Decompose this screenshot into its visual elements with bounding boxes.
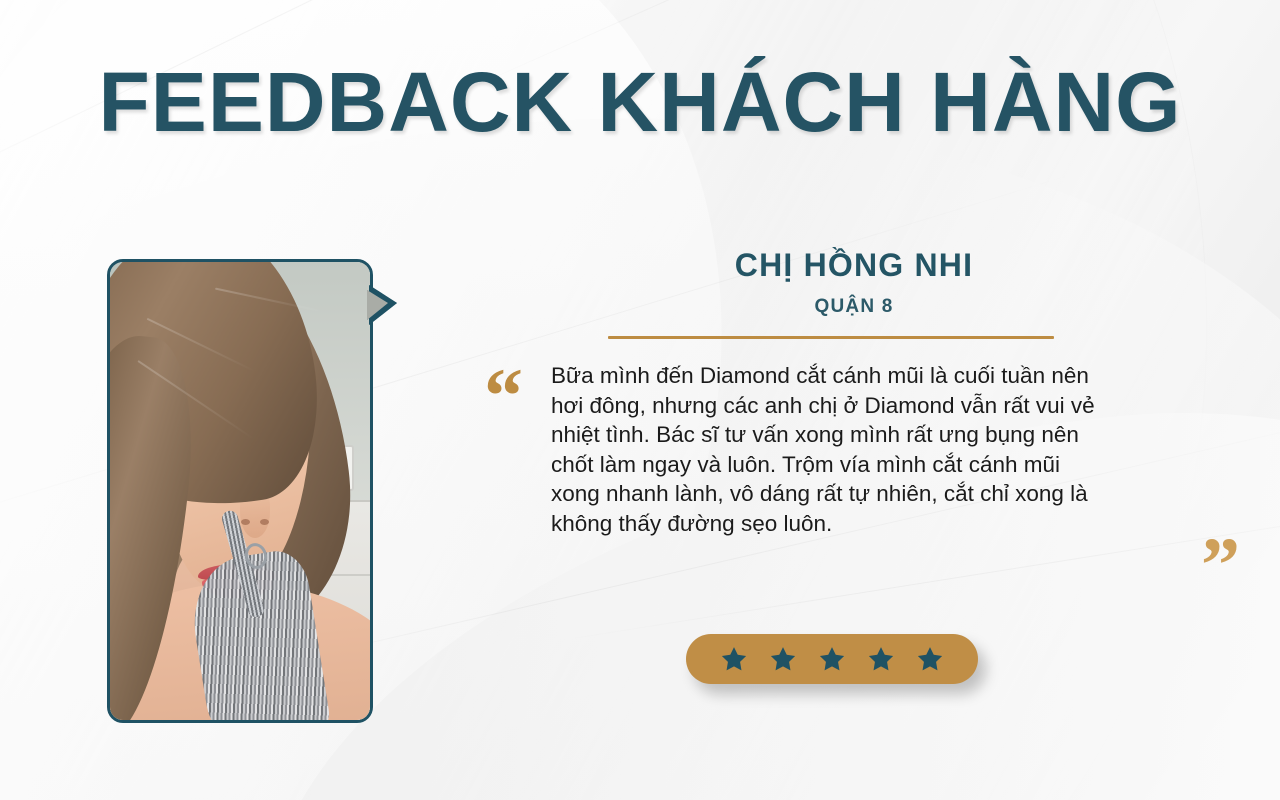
customer-name: CHỊ HỒNG NHI — [528, 246, 1180, 284]
quote-open-icon: “ — [484, 367, 523, 426]
gold-divider — [608, 336, 1054, 339]
page-title: FEEDBACK KHÁCH HÀNG — [0, 58, 1280, 146]
star-icon — [720, 645, 748, 673]
nostril-right — [260, 519, 269, 525]
quote-close-icon: ” — [1201, 536, 1240, 595]
feedback-slide: FEEDBACK KHÁCH HÀNG — [0, 0, 1280, 800]
photo-frame — [107, 259, 373, 723]
star-rating — [686, 634, 978, 684]
star-icon — [818, 645, 846, 673]
testimonial-panel: CHỊ HỒNG NHI QUẬN 8 “ Bữa mình đến Diamo… — [480, 246, 1180, 538]
customer-location: QUẬN 8 — [528, 296, 1180, 318]
speech-bubble-tail — [369, 285, 397, 325]
star-icon — [867, 645, 895, 673]
nostril-left — [241, 519, 250, 525]
star-icon — [769, 645, 797, 673]
star-icon — [916, 645, 944, 673]
quote-text: Bữa mình đến Diamond cắt cánh mũi là cuố… — [551, 361, 1101, 538]
customer-photo — [107, 259, 373, 723]
quote-block: “ Bữa mình đến Diamond cắt cánh mũi là c… — [480, 361, 1180, 538]
portrait-image — [110, 262, 370, 720]
